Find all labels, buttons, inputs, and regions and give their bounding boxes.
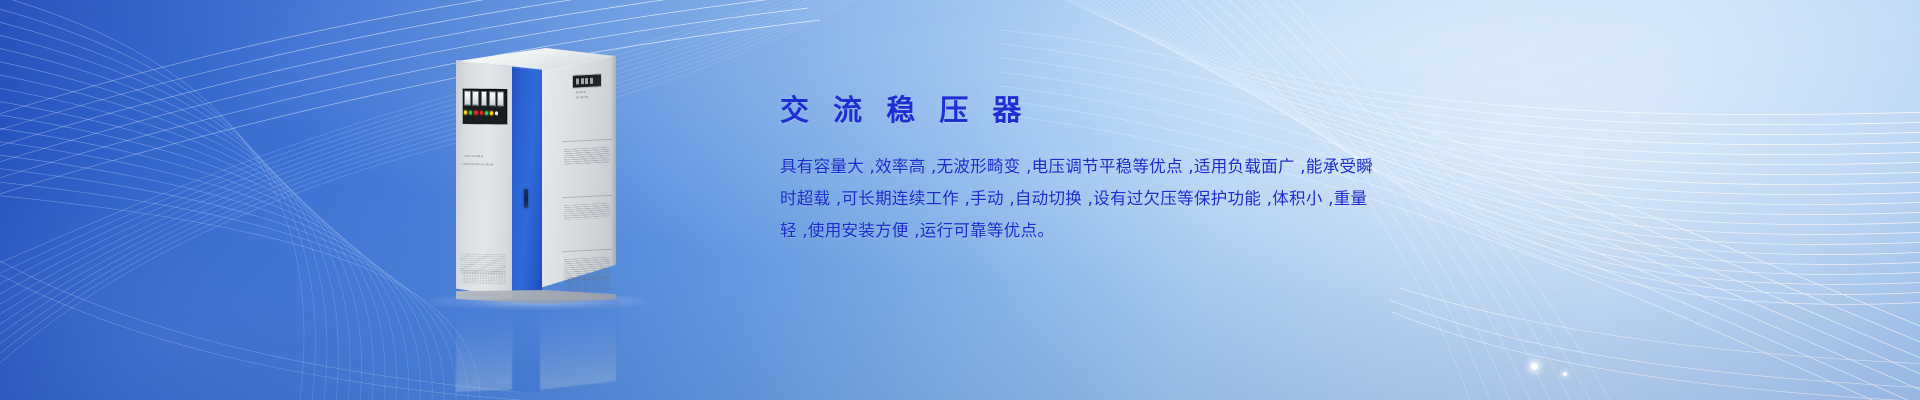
panel-model-label: SBW-SGW系列 [464,154,483,159]
indicator-lamp-yellow [490,112,493,115]
cabinet-base-plinth [456,290,616,304]
meter-gauge [489,91,496,106]
side-brand-label: 智能数显 [576,90,586,95]
indicator-lamp-white [495,112,498,115]
display-digit [576,78,579,84]
description-line-1: 具有容量大 ,效率高 ,无波形畸变 ,电压调节平稳等优点 ,适用负载面广 ,能承… [780,151,1310,183]
indicator-lamp-red [474,111,477,114]
cabinet-blue-door [512,62,542,300]
light-particle-small-icon [1563,372,1567,376]
side-digital-display [572,73,602,89]
cabinet-door-handle [524,189,528,208]
indicator-lamp-red [480,111,483,114]
mesh-vent [462,269,506,284]
panel-meters [464,90,504,106]
side-subbrand-label: 电力稳压器 [576,95,588,100]
product-image-voltage-stabilizer: SBW-SGW系列 三相全自动补偿式电力稳压器 智能数显 电力稳压器 [452,44,620,306]
meter-gauge [497,91,504,106]
indicator-lamp-yellow [464,111,467,114]
display-digit [585,78,588,84]
description-line-2: 时超载 ,可长期连续工作 ,手动 ,自动切换 ,设有过欠压等保护功能 ,体积小 … [780,183,1310,215]
ventilation-louver [564,147,610,165]
indicator-lamp-green [469,111,472,114]
display-digit [590,78,593,84]
mesh-vent [566,275,610,293]
panel-indicator-lamps [464,108,504,117]
meter-gauge [481,91,488,106]
meter-gauge [472,91,479,106]
panel-description-label: 三相全自动补偿式电力稳压器 [461,162,493,167]
ventilation-louver [564,203,610,220]
banner-description: 具有容量大 ,效率高 ,无波形畸变 ,电压调节平稳等优点 ,适用负载面广 ,能承… [780,151,1310,247]
display-digit [581,78,584,84]
light-particle-icon [1531,363,1538,370]
indicator-lamp-green [485,111,488,114]
banner-headline: 交 流 稳 压 器 [780,96,1430,125]
description-line-3: 轻 ,使用安装方便 ,运行可靠等优点。 [780,215,1310,247]
meter-gauge [464,90,471,105]
banner-copy-block: 交 流 稳 压 器 具有容量大 ,效率高 ,无波形畸变 ,电压调节平稳等优点 ,… [780,96,1430,247]
product-banner: SBW-SGW系列 三相全自动补偿式电力稳压器 智能数显 电力稳压器 交 流 稳… [0,0,1920,400]
